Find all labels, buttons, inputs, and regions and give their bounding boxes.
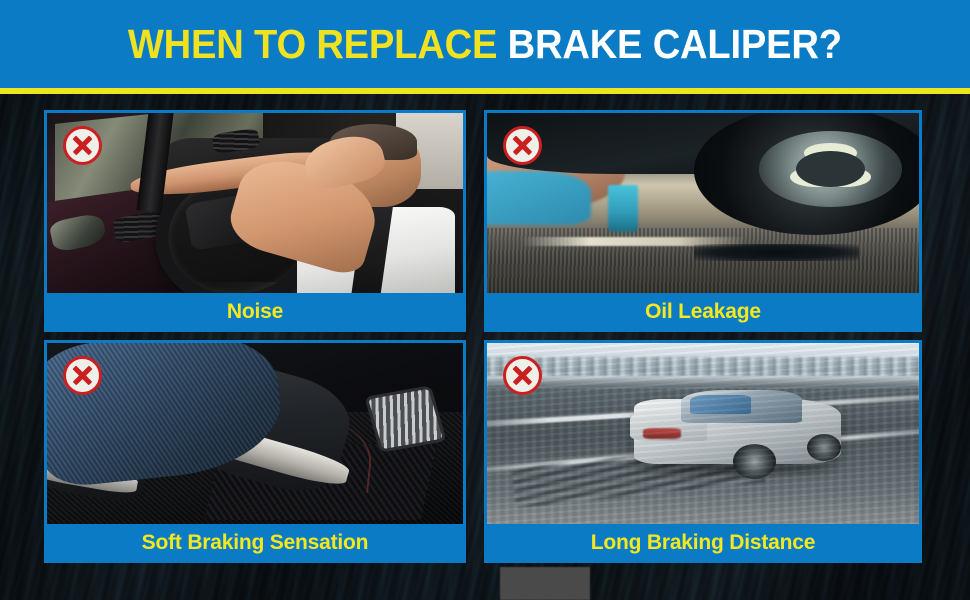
panel-oil-leakage-caption: Oil Leakage (487, 293, 919, 329)
panel-noise[interactable]: Noise (44, 110, 466, 332)
no-entry-x-icon (503, 356, 542, 395)
panel-oil-leakage[interactable]: Oil Leakage (484, 110, 922, 332)
scene-under-car-oil-puddle (487, 113, 919, 293)
no-entry-x-icon (63, 126, 102, 165)
panel-oil-leakage-photo (487, 113, 919, 293)
page-title-part-two: BRAKE CALIPER? (508, 21, 842, 67)
background-gray-block (500, 567, 590, 600)
panel-noise-label: Noise (227, 301, 283, 322)
scene-foot-on-brake-pedal (47, 343, 463, 524)
panel-soft-braking-sensation-photo (47, 343, 463, 524)
panel-long-braking-distance-caption: Long Braking Distance (487, 524, 919, 560)
scene-car-braking-on-highway (487, 343, 919, 524)
header-yellow-divider (0, 88, 970, 94)
panel-soft-braking-sensation[interactable]: Soft Braking Sensation (44, 340, 466, 563)
panel-soft-braking-sensation-label: Soft Braking Sensation (142, 532, 369, 553)
page-title: WHEN TO REPLACE BRAKE CALIPER? (128, 24, 842, 65)
panel-oil-leakage-label: Oil Leakage (645, 301, 761, 322)
panel-long-braking-distance-label: Long Braking Distance (591, 532, 816, 553)
no-entry-x-icon (503, 126, 542, 165)
no-entry-x-icon (63, 356, 102, 395)
panel-long-braking-distance[interactable]: Long Braking Distance (484, 340, 922, 563)
page-title-part-one: WHEN TO REPLACE (128, 21, 497, 67)
panel-soft-braking-sensation-caption: Soft Braking Sensation (47, 524, 463, 560)
panel-noise-photo (47, 113, 463, 293)
scene-car-interior-driver (47, 113, 463, 293)
infographic-poster: WHEN TO REPLACE BRAKE CALIPER? (0, 0, 970, 600)
panel-long-braking-distance-photo (487, 343, 919, 524)
header-banner: WHEN TO REPLACE BRAKE CALIPER? (0, 0, 970, 88)
panel-noise-caption: Noise (47, 293, 463, 329)
